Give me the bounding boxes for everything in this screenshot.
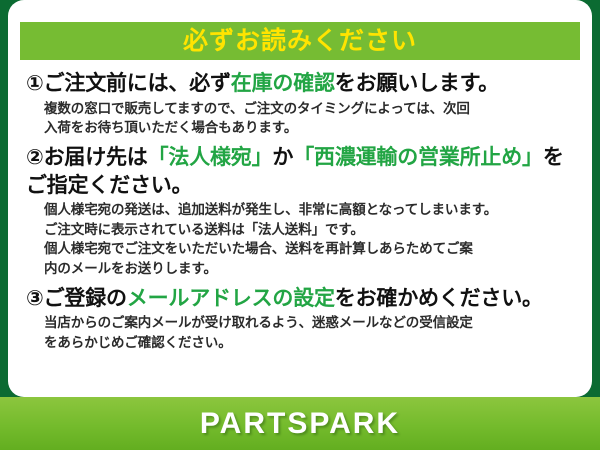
notice-panel: 必ずお読みください ①ご注文前には、必ず在庫の確認をお願いします。複数の窓口で販… (8, 0, 592, 397)
notice-item-text: をお願いします。 (335, 72, 499, 95)
notice-item-highlight: 「法人様宛」 (148, 146, 273, 169)
notice-item-heading: ②お届け先は「法人様宛」か「西濃運輸の営業所止め」をご指定ください。 (26, 144, 574, 199)
notice-item-text: ご登録の (44, 287, 127, 310)
notice-item-text: ご注文前には、必ず (44, 72, 231, 95)
notice-item-list: ①ご注文前には、必ず在庫の確認をお願いします。複数の窓口で販売してますので、ご注… (20, 60, 580, 352)
notice-item-body-line: 内のメールをお送りします。 (44, 259, 574, 279)
brand-name: PARTSPARK (200, 409, 400, 439)
notice-item-body-line: をあらかじめご確認ください。 (44, 333, 574, 353)
notice-item-highlight: メールアドレスの設定 (127, 287, 335, 310)
notice-item-heading: ③ご登録のメールアドレスの設定をお確かめください。 (26, 285, 574, 313)
notice-item-highlight: 「西濃運輸の営業所止め」 (293, 146, 543, 169)
notice-item-text: お届け先は (44, 146, 148, 169)
notice-item: ①ご注文前には、必ず在庫の確認をお願いします。複数の窓口で販売してますので、ご注… (26, 70, 574, 138)
notice-item-marker: ③ (26, 287, 44, 310)
brand-footer-band: PARTSPARK (0, 397, 600, 450)
notice-item-text: をお確かめください。 (335, 287, 543, 310)
notice-item-text: か (272, 146, 293, 169)
notice-title-band: 必ずお読みください (20, 22, 580, 60)
notice-item: ②お届け先は「法人様宛」か「西濃運輸の営業所止め」をご指定ください。個人様宅宛の… (26, 144, 574, 279)
notice-item-body: 当店からのご案内メールが受け取れるよう、迷惑メールなどの受信設定をあらかじめご確… (26, 313, 574, 352)
notice-item: ③ご登録のメールアドレスの設定をお確かめください。当店からのご案内メールが受け取… (26, 285, 574, 353)
notice-item-highlight: 在庫の確認 (231, 72, 335, 95)
notice-item-body: 複数の窓口で販売してますので、ご注文のタイミングによっては、次回入荷をお待ち頂い… (26, 99, 574, 138)
notice-item-body: 個人様宅宛の発送は、追加送料が発生し、非常に高額となってしまいます。ご注文時に表… (26, 200, 574, 278)
notice-item-body-line: 複数の窓口で販売してますので、ご注文のタイミングによっては、次回 (44, 99, 574, 119)
notice-item-marker: ① (26, 72, 44, 95)
notice-item-body-line: 個人様宅宛でご注文をいただいた場合、送料を再計算しあらためてご案 (44, 239, 574, 259)
notice-item-body-line: ご注文時に表示されている送料は「法人送料」です。 (44, 220, 574, 240)
notice-item-body-line: 当店からのご案内メールが受け取れるよう、迷惑メールなどの受信設定 (44, 313, 574, 333)
notice-item-heading: ①ご注文前には、必ず在庫の確認をお願いします。 (26, 70, 574, 98)
notice-frame: 必ずお読みください ①ご注文前には、必ず在庫の確認をお願いします。複数の窓口で販… (0, 0, 600, 450)
notice-title: 必ずお読みください (183, 29, 417, 54)
notice-item-marker: ② (26, 146, 44, 169)
notice-item-body-line: 個人様宅宛の発送は、追加送料が発生し、非常に高額となってしまいます。 (44, 200, 574, 220)
notice-item-body-line: 入荷をお待ち頂いただく場合もあります。 (44, 118, 574, 138)
